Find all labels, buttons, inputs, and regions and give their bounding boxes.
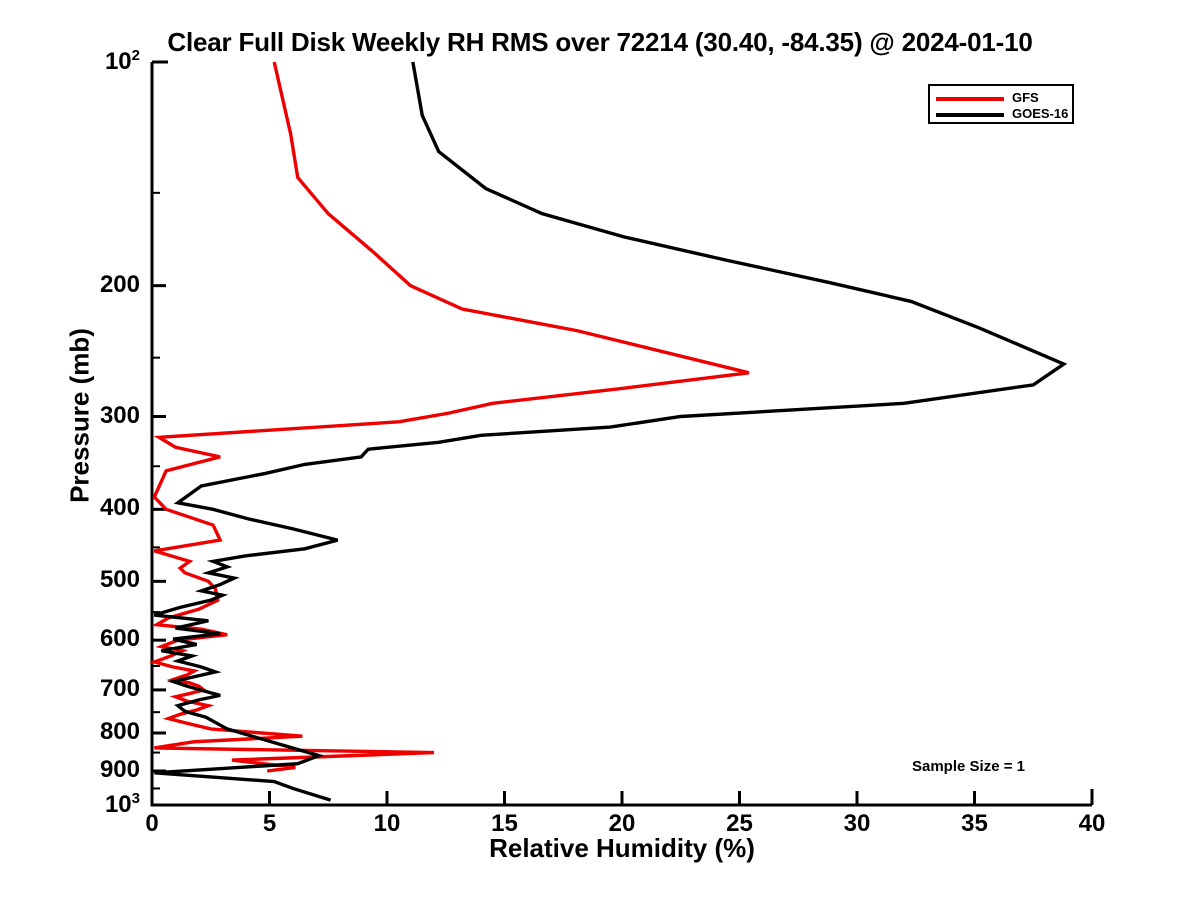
sample-size-annotation: Sample Size = 1 [912, 758, 1025, 775]
x-tick-label: 15 [465, 810, 545, 838]
y-tick-label: 800 [50, 718, 140, 746]
y-tick-label: 900 [50, 756, 140, 784]
x-tick-label: 5 [230, 810, 310, 838]
y-tick-label: 200 [50, 271, 140, 299]
y-tick-label: 102 [50, 47, 140, 76]
y-tick-label: 400 [50, 494, 140, 522]
x-tick-label: 35 [935, 810, 1015, 838]
y-tick-label: 600 [50, 625, 140, 653]
figure-canvas: Clear Full Disk Weekly RH RMS over 72214… [0, 0, 1200, 900]
legend-label-goes: GOES-16 [1012, 106, 1068, 121]
x-tick-label: 40 [1052, 810, 1132, 838]
series-line-gfs [154, 62, 749, 771]
series-line-goes-16 [154, 62, 1063, 800]
x-tick-label: 30 [817, 810, 897, 838]
x-tick-label: 20 [582, 810, 662, 838]
y-tick-label: 500 [50, 566, 140, 594]
legend-label-gfs: GFS [1012, 90, 1039, 105]
x-tick-label: 25 [700, 810, 780, 838]
axis-frame [152, 62, 1092, 805]
y-tick-label: 103 [50, 790, 140, 819]
x-axis-ticks [152, 791, 1092, 805]
legend-swatch-gfs [936, 97, 1004, 101]
y-tick-label: 700 [50, 675, 140, 703]
data-series-layer [154, 62, 1063, 800]
legend[interactable]: GFS GOES-16 [928, 84, 1074, 124]
y-tick-label: 300 [50, 402, 140, 430]
y-axis-ticks [152, 62, 166, 805]
x-tick-label: 10 [347, 810, 427, 838]
legend-swatch-goes [936, 113, 1004, 117]
